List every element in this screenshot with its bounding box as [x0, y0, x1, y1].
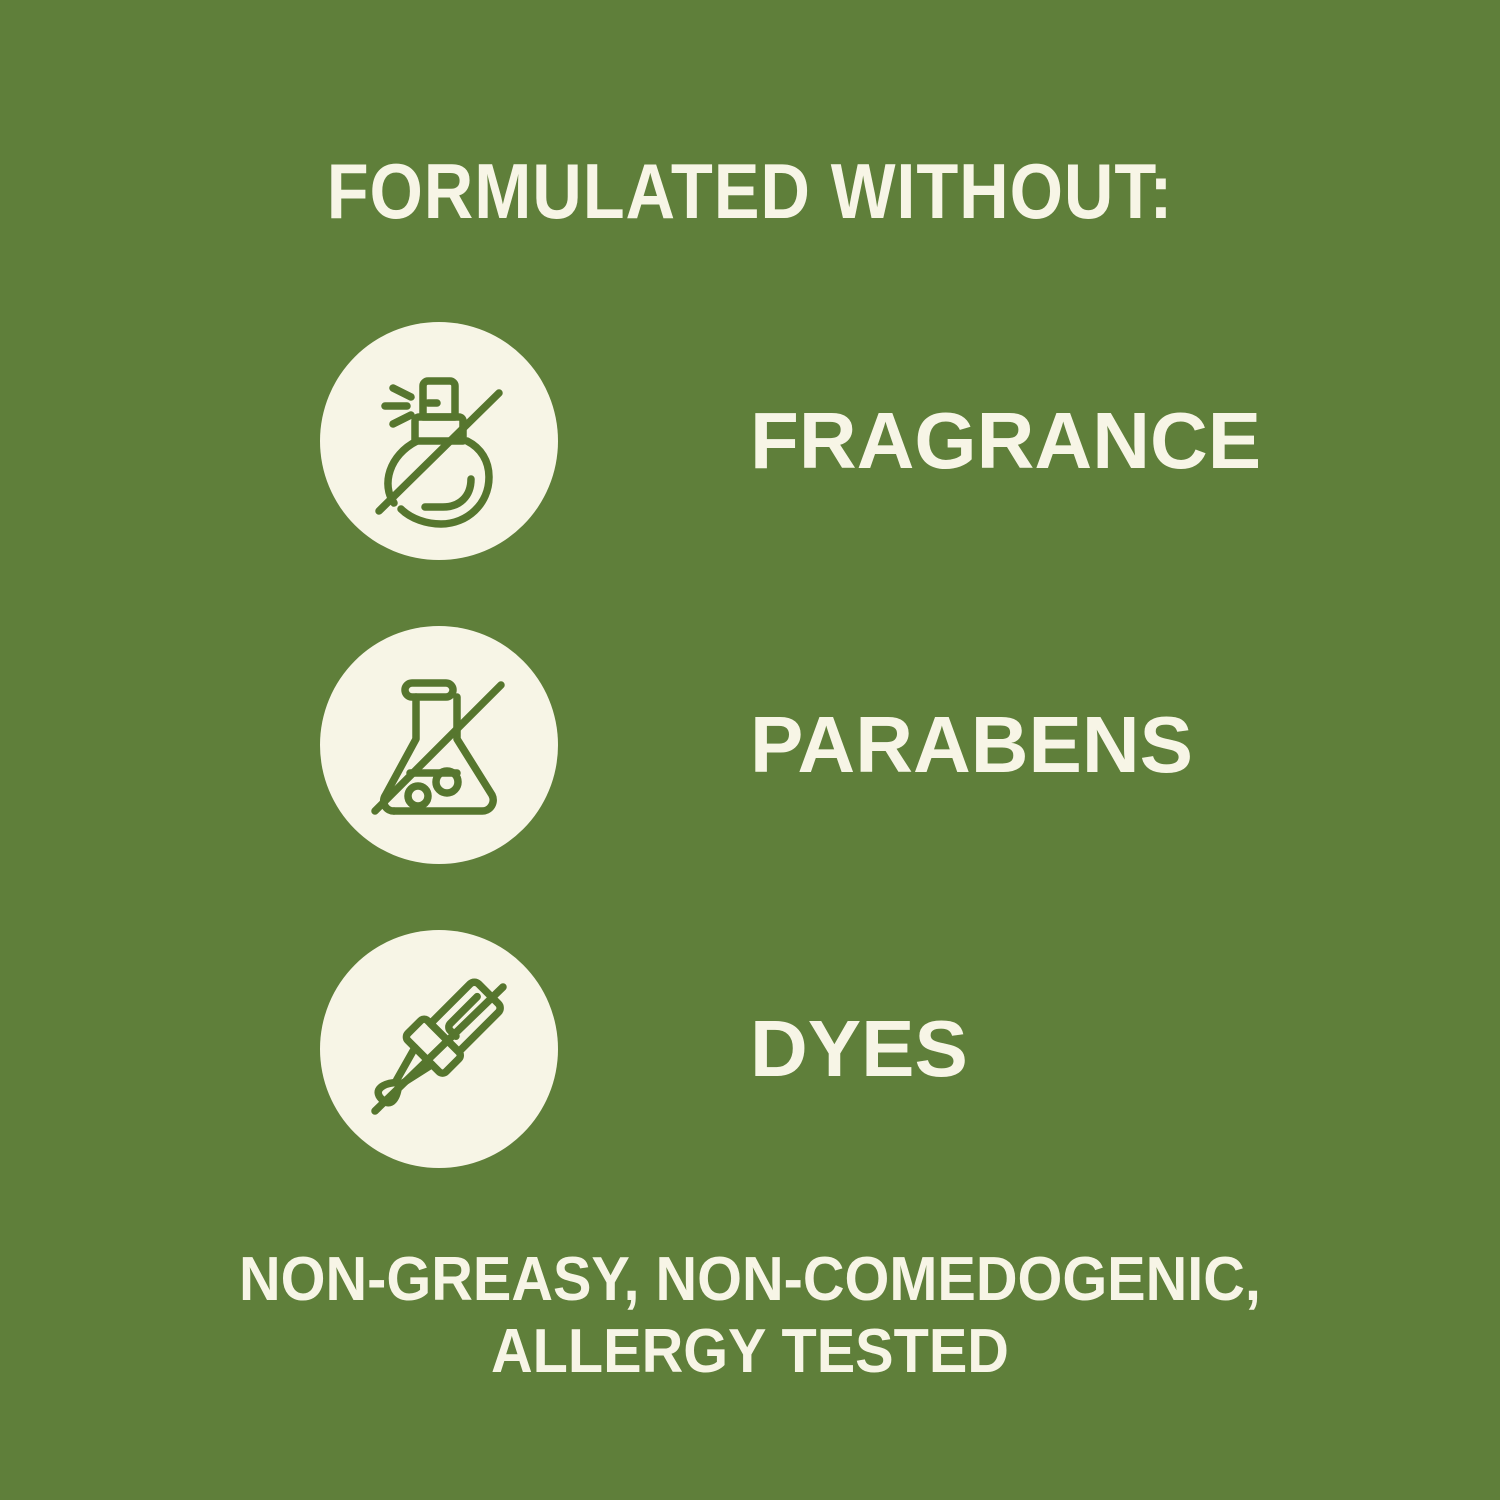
claim-label-dyes: DYES — [750, 1007, 968, 1091]
no-dropper-icon — [349, 959, 529, 1139]
badge-fragrance — [320, 322, 558, 560]
no-flask-icon — [349, 655, 529, 835]
footer-line-1: NON-GREASY, NON-COMEDOGENIC, — [53, 1244, 1448, 1316]
badge-parabens — [320, 626, 558, 864]
badge-dyes — [320, 930, 558, 1168]
formulated-without-panel: FORMULATED WITHOUT: — [0, 0, 1500, 1500]
footer-claims: NON-GREASY, NON-COMEDOGENIC, ALLERGY TES… — [0, 1244, 1500, 1388]
claim-label-parabens: PARABENS — [750, 703, 1193, 787]
page-title: FORMULATED WITHOUT: — [90, 150, 1410, 232]
footer-line-2: ALLERGY TESTED — [53, 1316, 1448, 1388]
no-perfume-bottle-icon — [349, 351, 529, 531]
claim-label-fragrance: FRAGRANCE — [750, 399, 1261, 483]
claim-row-fragrance: FRAGRANCE — [320, 321, 1320, 561]
claim-row-dyes: DYES — [320, 929, 1320, 1169]
claim-row-parabens: PARABENS — [320, 625, 1320, 865]
